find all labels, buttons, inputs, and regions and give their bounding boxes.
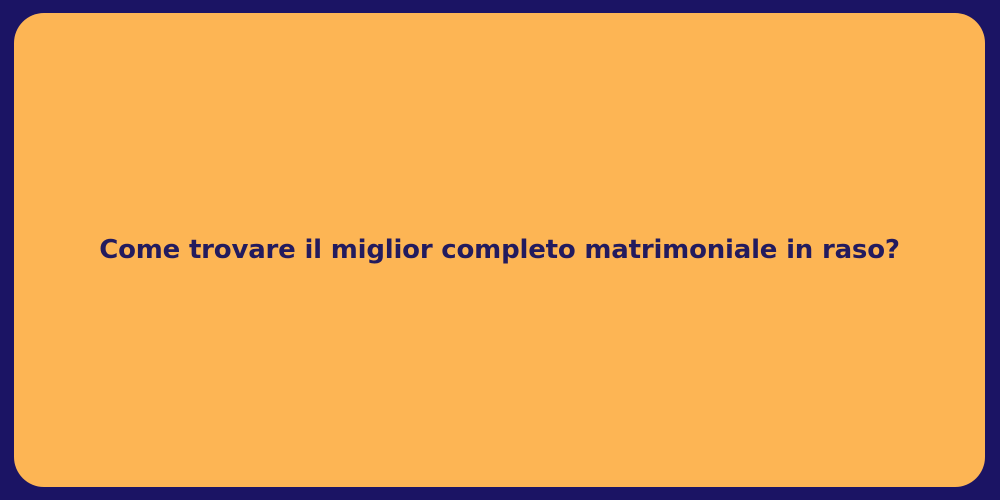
page-title: Come trovare il miglior completo matrimo… <box>59 234 940 267</box>
card-panel: Come trovare il miglior completo matrimo… <box>14 13 985 487</box>
card-frame: Come trovare il miglior completo matrimo… <box>0 0 1000 500</box>
